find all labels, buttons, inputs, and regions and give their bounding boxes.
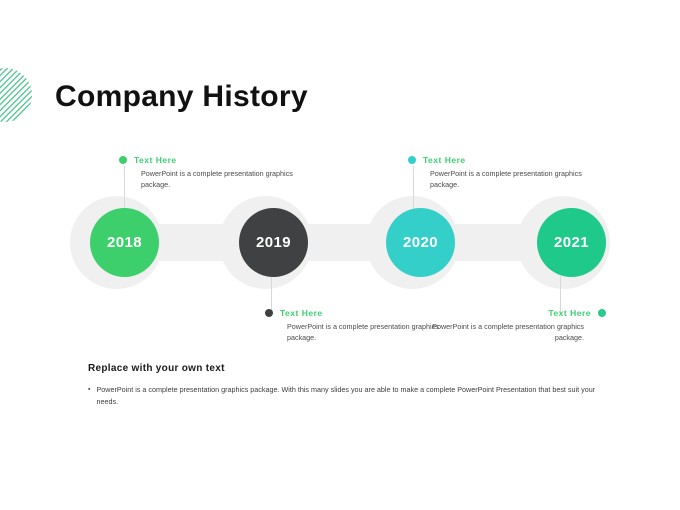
callout-dot-icon [265,309,273,317]
callout-body: PowerPoint is a complete presentation gr… [408,168,598,190]
diagonal-stripes-pattern [0,68,32,122]
callout-title: Text Here [134,155,177,165]
milestone-circle-2018[interactable]: 2018 [90,208,159,277]
slide-canvas: Company History 2018 2019 2020 2021 Text… [0,0,680,510]
page-title: Company History [55,80,308,114]
callout-title: Text Here [423,155,466,165]
callout-title: Text Here [280,308,323,318]
milestone-circle-2020[interactable]: 2020 [386,208,455,277]
callout-header: Text Here [119,155,309,165]
timeline-track-bar [106,224,574,261]
callout-header: Text Here [408,155,598,165]
striped-circle-decoration [0,68,32,122]
callout-dot-icon [598,309,606,317]
callout-2021: Text Here PowerPoint is a complete prese… [424,308,606,343]
callout-body: PowerPoint is a complete presentation gr… [424,321,606,343]
milestone-circle-2021[interactable]: 2021 [537,208,606,277]
callout-dot-icon [119,156,127,164]
milestone-circle-2019[interactable]: 2019 [239,208,308,277]
callout-title: Text Here [548,308,591,318]
bullet-text: PowerPoint is a complete presentation gr… [96,384,600,408]
callout-dot-icon [408,156,416,164]
bullet-marker-icon: ▪ [88,384,90,408]
callout-2020: Text Here PowerPoint is a complete prese… [408,155,598,190]
replace-text-bullet: ▪ PowerPoint is a complete presentation … [88,384,600,408]
callout-2018: Text Here PowerPoint is a complete prese… [119,155,309,190]
callout-body: PowerPoint is a complete presentation gr… [119,168,309,190]
replace-text-heading: Replace with your own text [88,363,225,374]
callout-header: Text Here [424,308,606,318]
